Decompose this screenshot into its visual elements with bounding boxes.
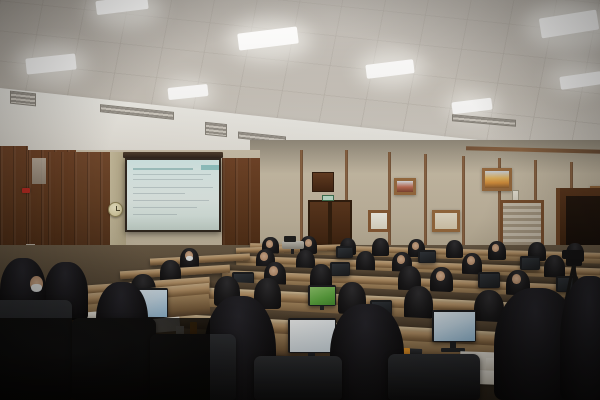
- monitor-row4-a[interactable]: [418, 250, 436, 263]
- projection-screen-surface: [127, 160, 219, 230]
- wall-trim-4: [424, 154, 427, 258]
- monitor-fg-center[interactable]: [288, 318, 336, 353]
- framed-art-sunset: [482, 168, 512, 191]
- fire-alarm-icon: [22, 188, 30, 193]
- attendee-r4-4-face: [397, 255, 405, 264]
- face-mask-r4: [186, 256, 193, 261]
- ceiling-vent-1: [10, 91, 36, 107]
- attendee-r3-4-face: [436, 271, 445, 281]
- monitor-row4-c[interactable]: [336, 246, 353, 258]
- projection-screen-frame: [125, 158, 221, 232]
- attendee-r4-1-face: [260, 252, 268, 261]
- monitor-row3-b[interactable]: [478, 272, 500, 288]
- monitor-fg-green[interactable]: [308, 285, 336, 306]
- wall-clock: [108, 202, 123, 217]
- door-transom-panel: [312, 172, 334, 192]
- chair-fg-4[interactable]: [254, 356, 342, 400]
- wall-trim-5: [462, 156, 465, 258]
- monitor-row4-b[interactable]: [520, 256, 540, 270]
- attendee-r5-6: [446, 240, 463, 258]
- framed-art-calligraphy: [432, 210, 460, 232]
- projector: [282, 241, 304, 249]
- attendee-r5-7-face: [492, 244, 499, 252]
- monitor-row3-a[interactable]: [330, 262, 350, 276]
- camera-body: [562, 250, 584, 259]
- ceiling-vent-3: [205, 122, 227, 137]
- attendee-r3-1-face: [269, 266, 278, 276]
- attendee-r5-4: [372, 238, 389, 256]
- wall-trim-3: [388, 152, 391, 258]
- chair-fg-5[interactable]: [388, 354, 480, 400]
- attendee-r5-1-face: [266, 240, 273, 248]
- wall-light-panel: [368, 210, 390, 232]
- monitor-fg-right[interactable]: [432, 310, 476, 342]
- monitor-fg-green-stand: [320, 306, 324, 310]
- face-mask-fg-left: [31, 284, 42, 292]
- attendee-r4-5-face: [467, 256, 475, 265]
- projector-top-unit: [284, 236, 296, 242]
- framed-art-red: [394, 178, 416, 195]
- attendee-r2-4: [404, 286, 433, 319]
- slide-accent: [201, 165, 219, 170]
- lecture-hall-photo: [0, 0, 600, 400]
- exit-sign: [322, 195, 334, 201]
- attendee-r3-5-face: [512, 274, 521, 284]
- wall-plate-left: [32, 158, 46, 184]
- attendee-r5-2-face: [305, 239, 312, 247]
- floor-shadow-left: [0, 318, 210, 400]
- attendee-r5-5-face: [412, 242, 419, 250]
